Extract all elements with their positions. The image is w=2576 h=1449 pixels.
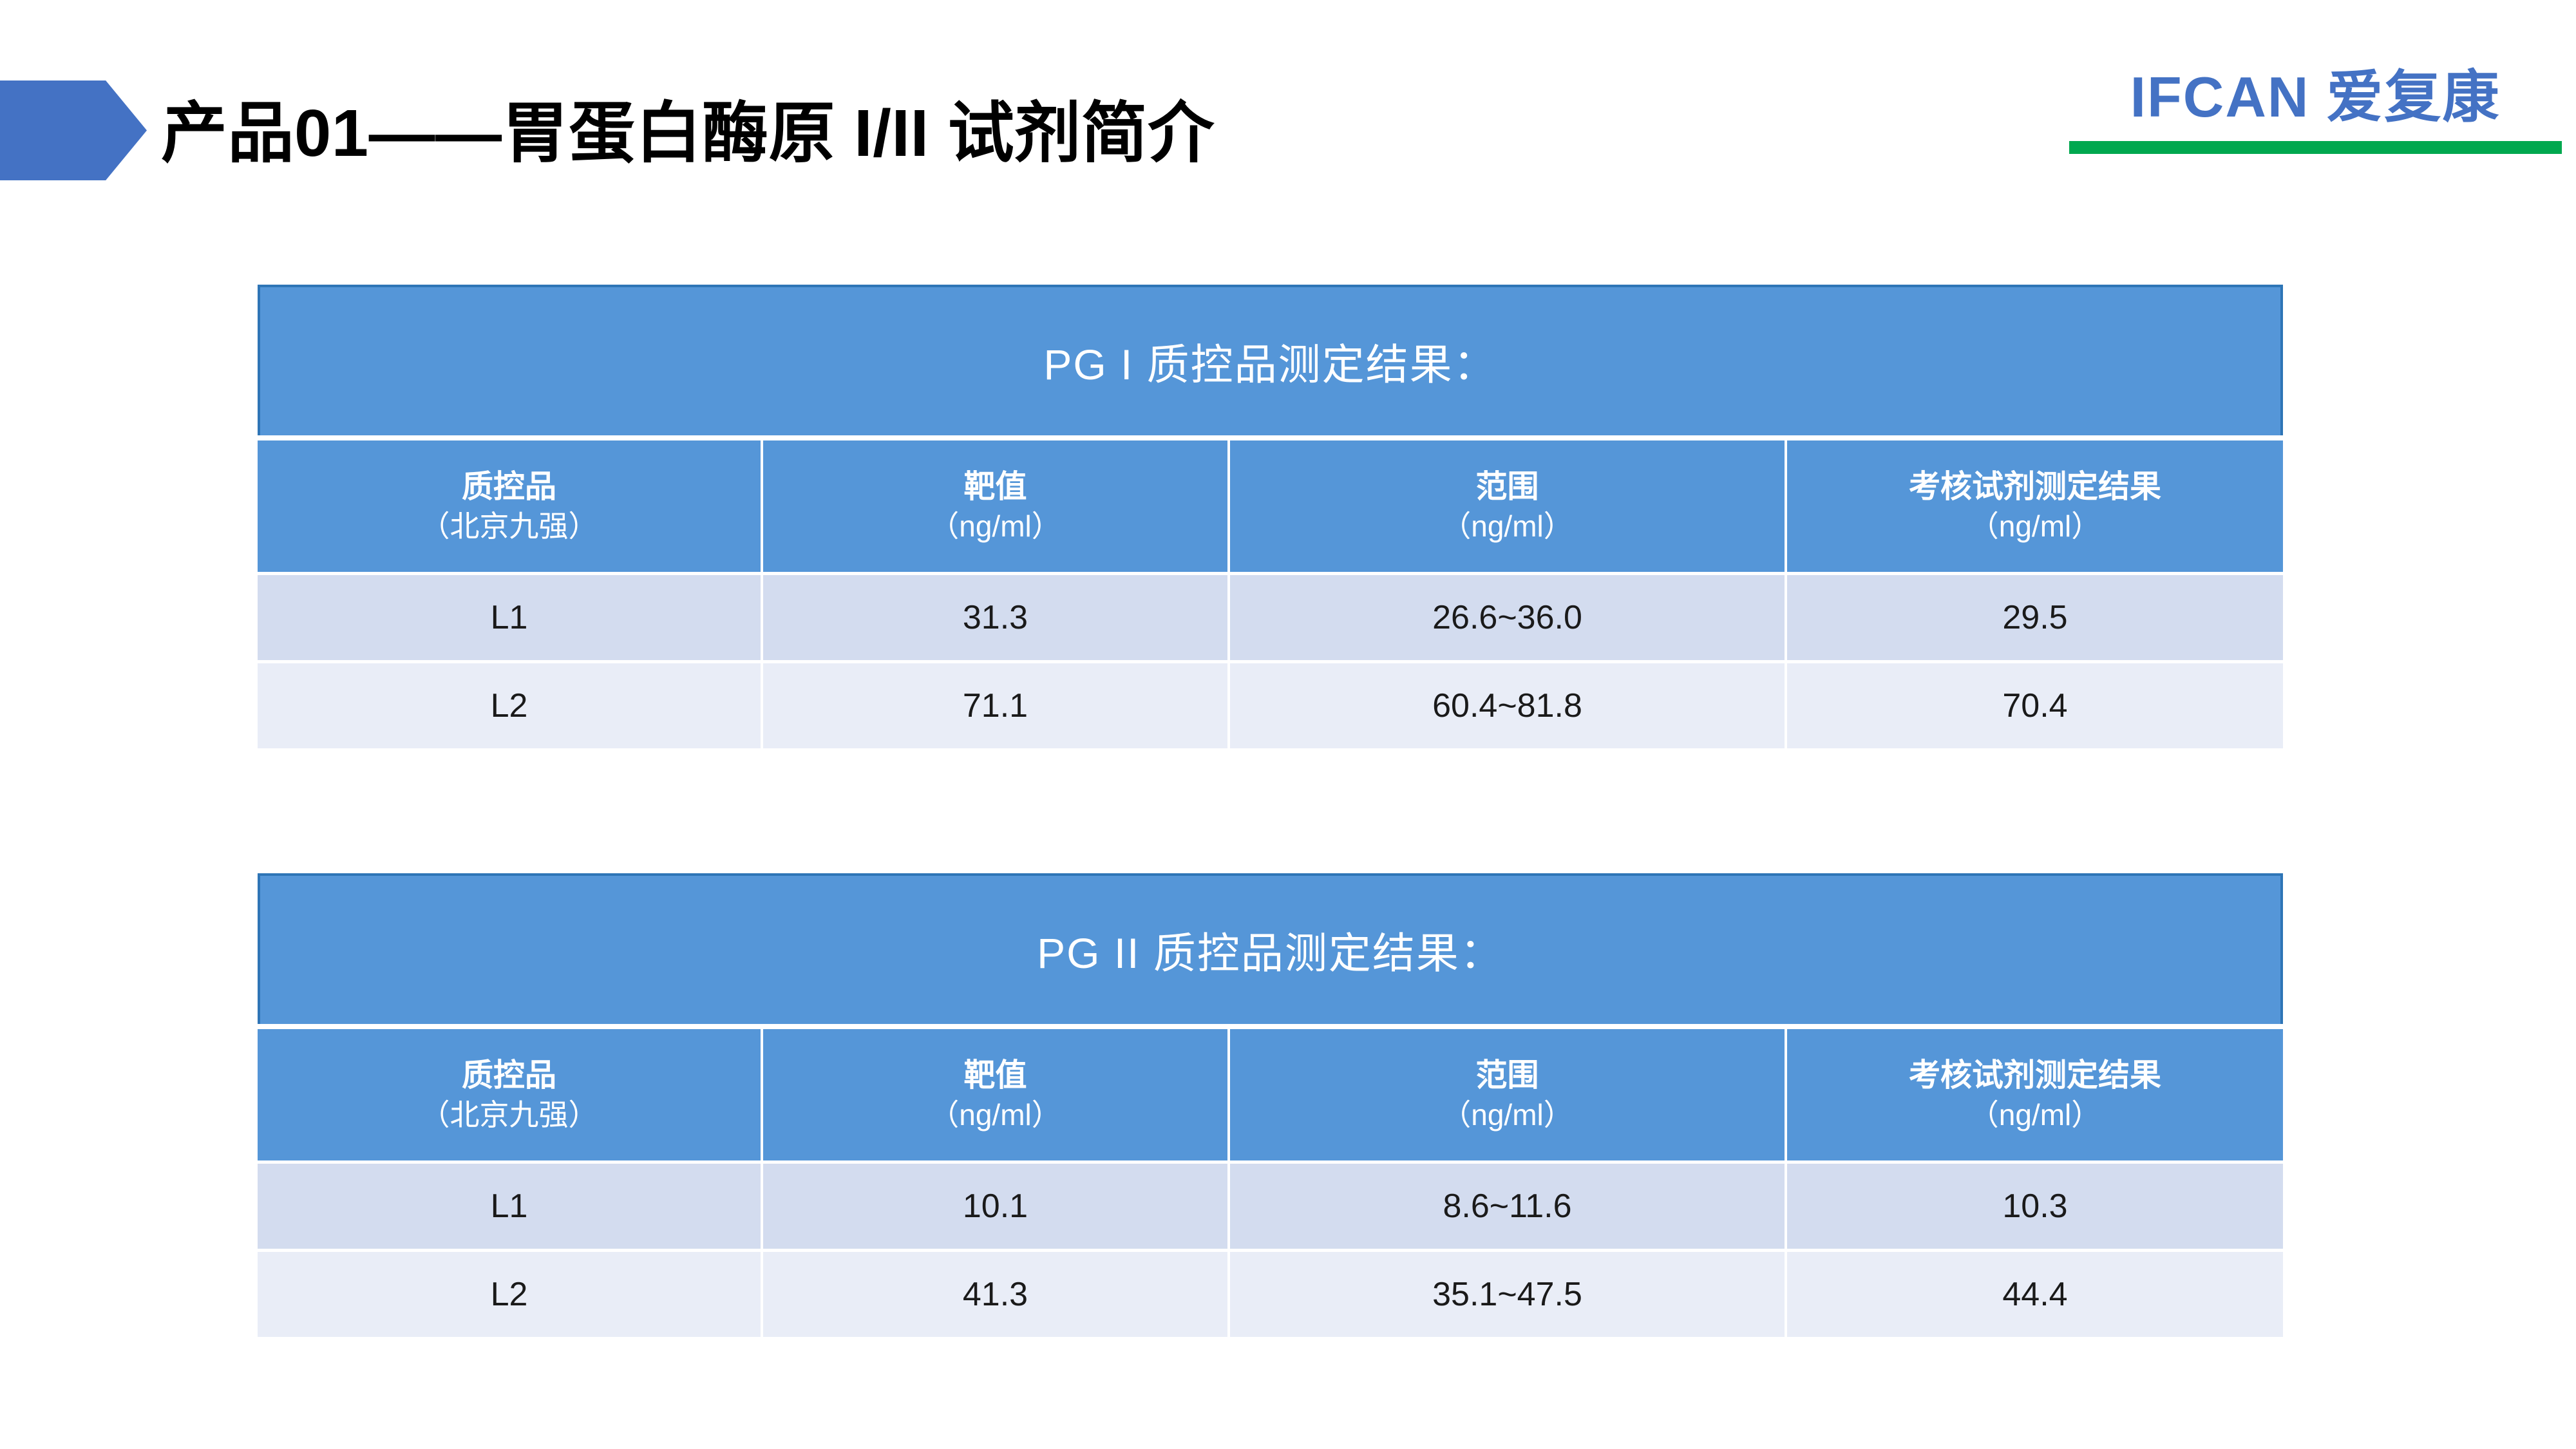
header-result: 考核试剂测定结果 （ng/ml） [1787, 1024, 2283, 1160]
table-caption-row: PG II 质控品测定结果： [258, 873, 2283, 1024]
cell-target: 10.1 [763, 1160, 1230, 1249]
header-result-title: 考核试剂测定结果 [1909, 469, 2161, 504]
brand-logo-text: IFCAN爱复康 [2061, 68, 2570, 127]
header-range: 范围 （ng/ml） [1230, 1024, 1787, 1160]
cell-range: 60.4~81.8 [1230, 660, 1787, 748]
cell-sample: L2 [258, 660, 763, 748]
pg1-table-caption: PG I 质控品测定结果： [258, 285, 2283, 435]
header-sample: 质控品 （北京九强） [258, 435, 763, 572]
table-header-row: 质控品 （北京九强） 靶值 （ng/ml） 范围 （ng/ml） 考核试剂测定结… [258, 435, 2283, 572]
table-row: L2 41.3 35.1~47.5 44.4 [258, 1249, 2283, 1337]
cell-range: 26.6~36.0 [1230, 572, 1787, 660]
cell-target: 31.3 [763, 572, 1230, 660]
header-target-unit: （ng/ml） [767, 1096, 1224, 1134]
header-result-title: 考核试剂测定结果 [1909, 1058, 2161, 1093]
brand-name-en: IFCAN [2130, 65, 2310, 129]
header-target: 靶值 （ng/ml） [763, 1024, 1230, 1160]
table-caption-row: PG I 质控品测定结果： [258, 285, 2283, 435]
header-sample-title: 质控品 [462, 469, 556, 504]
pg2-results-table: PG II 质控品测定结果： 质控品 （北京九强） 靶值 （ng/ml） 范围 … [258, 873, 2283, 1337]
header-target-unit: （ng/ml） [767, 507, 1224, 545]
header-range-title: 范围 [1475, 469, 1539, 504]
header-result-unit: （ng/ml） [1791, 507, 2279, 545]
header-sample-title: 质控品 [462, 1058, 556, 1093]
cell-sample: L1 [258, 572, 763, 660]
title-chevron-icon [0, 80, 147, 180]
cell-sample: L2 [258, 1249, 763, 1337]
header-sample: 质控品 （北京九强） [258, 1024, 763, 1160]
cell-range: 35.1~47.5 [1230, 1249, 1787, 1337]
header-range: 范围 （ng/ml） [1230, 435, 1787, 572]
header-sample-sub: （北京九强） [261, 1096, 757, 1134]
cell-result: 70.4 [1787, 660, 2283, 748]
brand-underline-bar [2069, 141, 2562, 154]
brand-name-cn: 爱复康 [2326, 65, 2500, 129]
header-result: 考核试剂测定结果 （ng/ml） [1787, 435, 2283, 572]
header-range-unit: （ng/ml） [1234, 1096, 1781, 1134]
brand-logo: IFCAN爱复康 [2061, 68, 2570, 154]
table-row: L1 10.1 8.6~11.6 10.3 [258, 1160, 2283, 1249]
cell-result: 10.3 [1787, 1160, 2283, 1249]
pg2-table-caption: PG II 质控品测定结果： [258, 873, 2283, 1024]
header-target-title: 靶值 [963, 1058, 1027, 1093]
cell-range: 8.6~11.6 [1230, 1160, 1787, 1249]
slide-header: 产品01——胃蛋白酶原 I/II 试剂简介 IFCAN爱复康 [0, 0, 2576, 193]
cell-target: 41.3 [763, 1249, 1230, 1337]
header-range-unit: （ng/ml） [1234, 507, 1781, 545]
header-target: 靶值 （ng/ml） [763, 435, 1230, 572]
page-title: 产品01——胃蛋白酶原 I/II 试剂简介 [161, 85, 1215, 182]
cell-result: 29.5 [1787, 572, 2283, 660]
cell-result: 44.4 [1787, 1249, 2283, 1337]
header-sample-sub: （北京九强） [261, 507, 757, 545]
cell-sample: L1 [258, 1160, 763, 1249]
table-row: L2 71.1 60.4~81.8 70.4 [258, 660, 2283, 748]
table-row: L1 31.3 26.6~36.0 29.5 [258, 572, 2283, 660]
pg1-results-table: PG I 质控品测定结果： 质控品 （北京九强） 靶值 （ng/ml） 范围 （… [258, 285, 2283, 748]
header-result-unit: （ng/ml） [1791, 1096, 2279, 1134]
header-target-title: 靶值 [963, 469, 1027, 504]
cell-target: 71.1 [763, 660, 1230, 748]
table-header-row: 质控品 （北京九强） 靶值 （ng/ml） 范围 （ng/ml） 考核试剂测定结… [258, 1024, 2283, 1160]
header-range-title: 范围 [1475, 1058, 1539, 1093]
